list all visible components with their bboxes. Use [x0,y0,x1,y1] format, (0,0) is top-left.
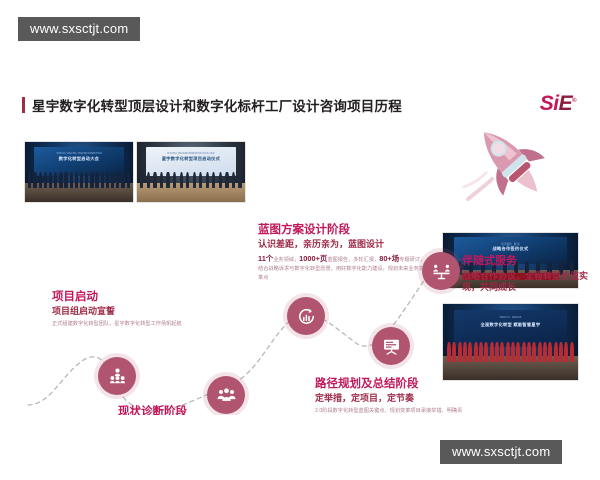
milestone-body: 11个业务领域，1000+页蓝图报告，多轮汇报，80+场专题研讨，结合战略诉求与… [258,253,426,282]
summary-conference-photo: XINGYU · 2023.06 全面数字化转型 赋能智慧星宇 [442,303,579,381]
brand-logo-sie: SiE® [540,92,576,116]
photo-screen-subtitle: XINGYU DIGITAL TRANSFORMATION [34,152,125,155]
slide-canvas: 星宇数字化转型顶层设计和数字化标杆工厂设计咨询项目历程 SiE® XINGYU … [10,75,590,415]
milestone-body: 正式组建数字化转型团队，星宇数字化转型工作扬帆起航 [52,320,182,329]
milestone-block-roadmap-summary: 路径规划及总结阶段 定举措，定项目，定节奏 2.0阶段数字化转型蓝图关键点、规划… [315,377,465,415]
milestone-subheading: 认识差距，亲历亲为，蓝图设计 [258,239,426,251]
photo-screen-title: 数字化转型启动大会 [34,156,125,162]
photo-crowd [447,342,574,362]
team-hierarchy-icon [108,367,127,386]
photo-crowd [140,172,242,188]
photo-crowd [28,172,130,188]
title-accent-bar [22,97,25,113]
milestone-heading: 项目启动 [52,290,182,304]
project-kickoff-photo-1: XINGYU DIGITAL TRANSFORMATION 数字化转型启动大会 [24,141,134,203]
milestone-heading: 伴随式服务 [462,255,590,269]
photo-screen-title: 星宇数字化转型项目启动仪式 [146,156,237,162]
milestone-subheading: 项目组启动宣誓 [52,306,182,318]
milestone-subheading: 战略合作协议，全程转型价值实现，共同成长 [462,271,590,294]
milestone-heading: 路径规划及总结阶段 [315,377,465,391]
brand-logo-part-a: Si [540,92,559,115]
milestone-heading: 蓝图方案设计阶段 [258,223,426,237]
rocket-icon [462,113,554,205]
milestone-node-project-launch[interactable] [98,357,136,395]
milestone-heading: 现状诊断阶段 [118,405,298,415]
milestone-node-blueprint-design[interactable] [287,297,325,335]
people-group-icon [217,386,236,405]
milestone-node-roadmap-summary[interactable] [372,327,410,365]
photo-screen-title: 全面数字化转型 赋能智慧星宇 [454,322,567,328]
slide-header: 星宇数字化转型顶层设计和数字化标杆工厂设计咨询项目历程 [22,95,402,115]
milestone-subheading: 定举措，定项目，定节奏 [315,393,465,405]
milestone-block-status-diagnosis: 现状诊断阶段 百人大战，全面覆盖，深入诊断 数字化转型战略解读、流程框架分析，近… [118,405,298,415]
watermark-bottom: www.sxsctjt.com [440,440,562,464]
page-title: 星宇数字化转型顶层设计和数字化标杆工厂设计咨询项目历程 [32,95,402,115]
analytics-chart-icon [297,307,316,326]
photo-screen-title: 战略合作签约仪式 [454,246,567,252]
meeting-table-icon [432,262,451,281]
photo-screen-subtitle: DIGITAL TRANSFORMATION KICK-OFF [146,152,237,155]
milestone-block-companion-service: 伴随式服务 战略合作协议，全程转型价值实现，共同成长 [462,255,590,296]
milestone-body: 2.0阶段数字化转型蓝图关键点、规划变革项目承接举措、明确责任人、明确项目优先级… [315,407,465,415]
watermark-top: www.sxsctjt.com [18,17,140,41]
project-kickoff-photo-2: DIGITAL TRANSFORMATION KICK-OFF 星宇数字化转型项… [136,141,246,203]
milestone-node-companion-service[interactable] [422,252,460,290]
brand-trademark-symbol: ® [572,98,576,104]
photo-screen-subtitle: XINGYU · 2023.06 [454,316,567,319]
milestone-block-project-launch: 项目启动 项目组启动宣誓 正式组建数字化转型团队，星宇数字化转型工作扬帆起航 [52,290,182,329]
brand-logo-part-b: E [559,92,573,115]
milestone-block-blueprint-design: 蓝图方案设计阶段 认识差距，亲历亲为，蓝图设计 11个业务领域，1000+页蓝图… [258,223,426,282]
presentation-board-icon [382,337,401,356]
